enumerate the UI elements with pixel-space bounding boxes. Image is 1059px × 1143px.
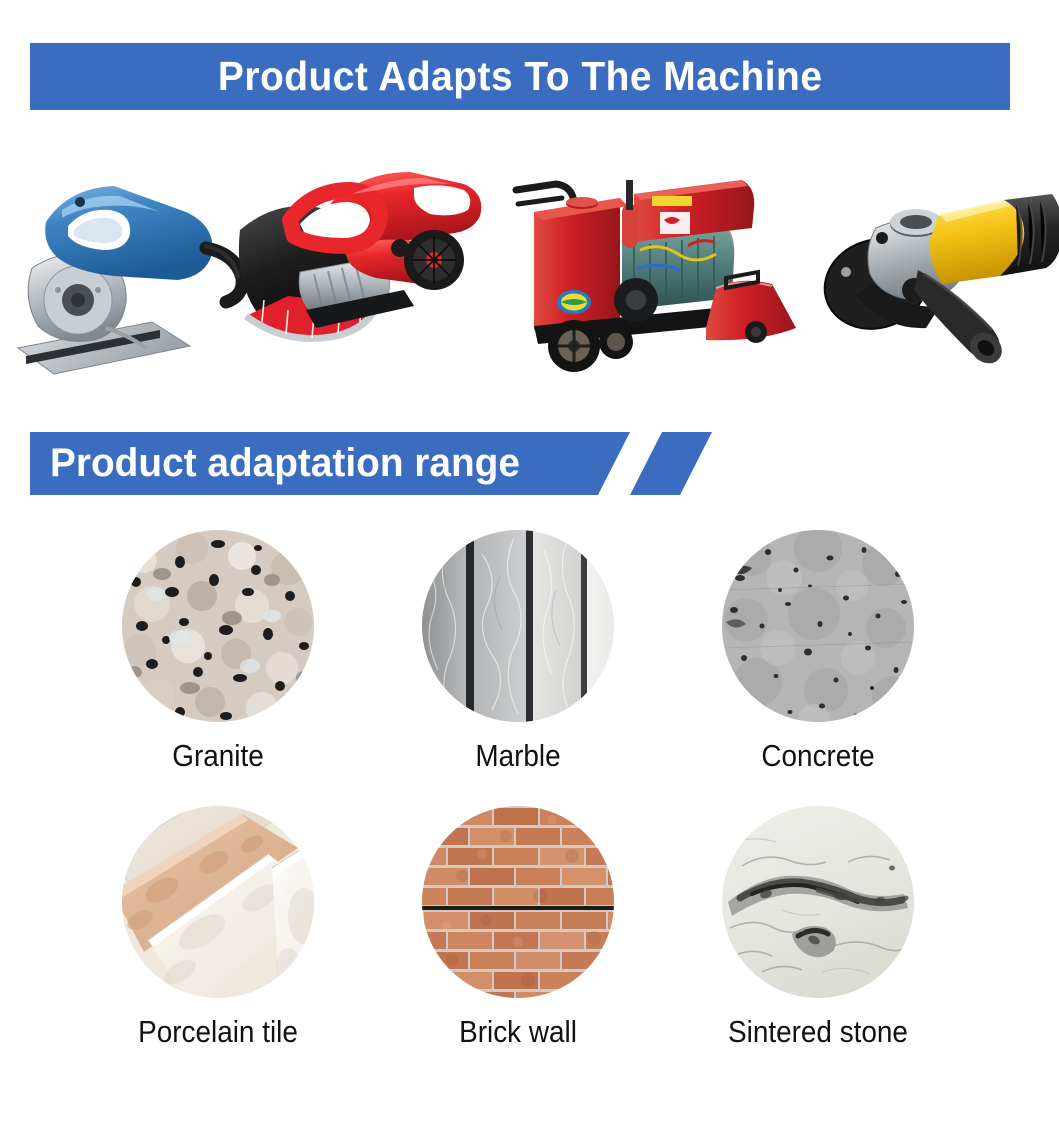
section-heading-text: Product adaptation range [50,432,520,495]
machine-image-angle-grinder [820,150,1059,400]
material-item-sintered-stone: Sintered stone [668,806,968,1050]
material-grid: Granite [0,530,1059,1100]
porcelain-tile-swatch [122,806,314,998]
section-heading-banner: Product adaptation range [30,432,690,495]
material-item-marble: Marble [368,530,668,774]
material-label-brick-wall: Brick wall [383,1014,653,1050]
machine-image-walk-behind-road-saw [510,150,810,400]
machine-image-concrete-cut-off-saw [228,150,493,400]
brick-wall-swatch [422,806,614,998]
material-label-sintered-stone: Sintered stone [683,1014,953,1050]
material-label-granite: Granite [83,738,353,774]
material-label-concrete: Concrete [683,738,953,774]
material-label-marble: Marble [383,738,653,774]
page-title-banner: Product Adapts To The Machine [30,43,1010,110]
machine-gallery [0,150,1059,400]
material-item-concrete: Concrete [668,530,968,774]
heading-slash-shape [630,432,712,495]
page-title: Product Adapts To The Machine [218,53,823,100]
machine-image-marble-tile-cutter [10,150,250,400]
material-item-granite: Granite [68,530,368,774]
material-item-brick-wall: Brick wall [368,806,668,1050]
marble-swatch [422,530,614,722]
concrete-swatch [722,530,914,722]
granite-swatch [122,530,314,722]
material-item-porcelain-tile: Porcelain tile [68,806,368,1050]
sintered-stone-swatch [722,806,914,998]
material-label-porcelain-tile: Porcelain tile [83,1014,353,1050]
